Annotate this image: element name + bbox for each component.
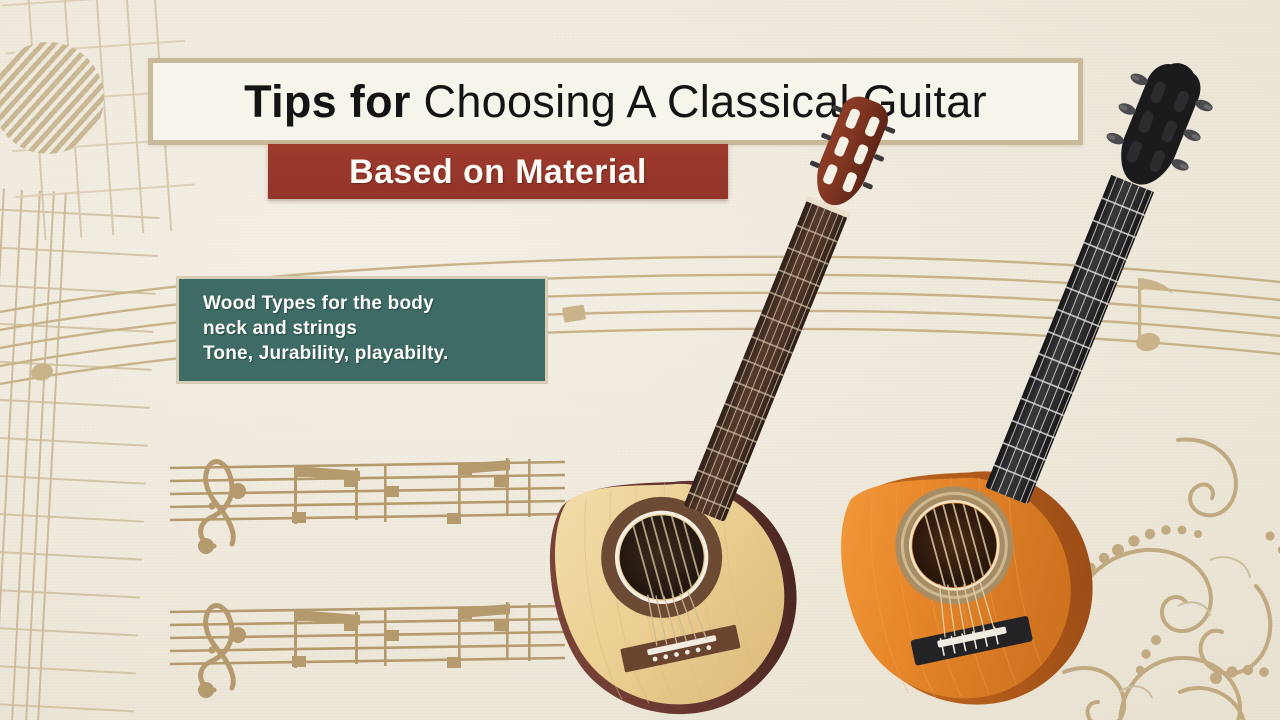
- music-staff-lower: [170, 590, 565, 700]
- info-box: Wood Types for the body neck and strings…: [176, 276, 548, 384]
- music-staff-upper: [170, 450, 565, 560]
- info-line: Wood Types for the body: [203, 291, 545, 316]
- info-line: Tone, Jurability, playabilty.: [203, 341, 545, 366]
- info-line: neck and strings: [203, 316, 545, 341]
- striped-circle-decoration: [0, 42, 104, 154]
- classical-guitar-amber: [840, 130, 1210, 720]
- title-regular-part: Choosing A Classical Guitar: [424, 76, 987, 127]
- poster-canvas: Tips for Choosing A Classical Guitar Bas…: [0, 0, 1280, 720]
- title-bold-part: Tips for: [244, 76, 411, 127]
